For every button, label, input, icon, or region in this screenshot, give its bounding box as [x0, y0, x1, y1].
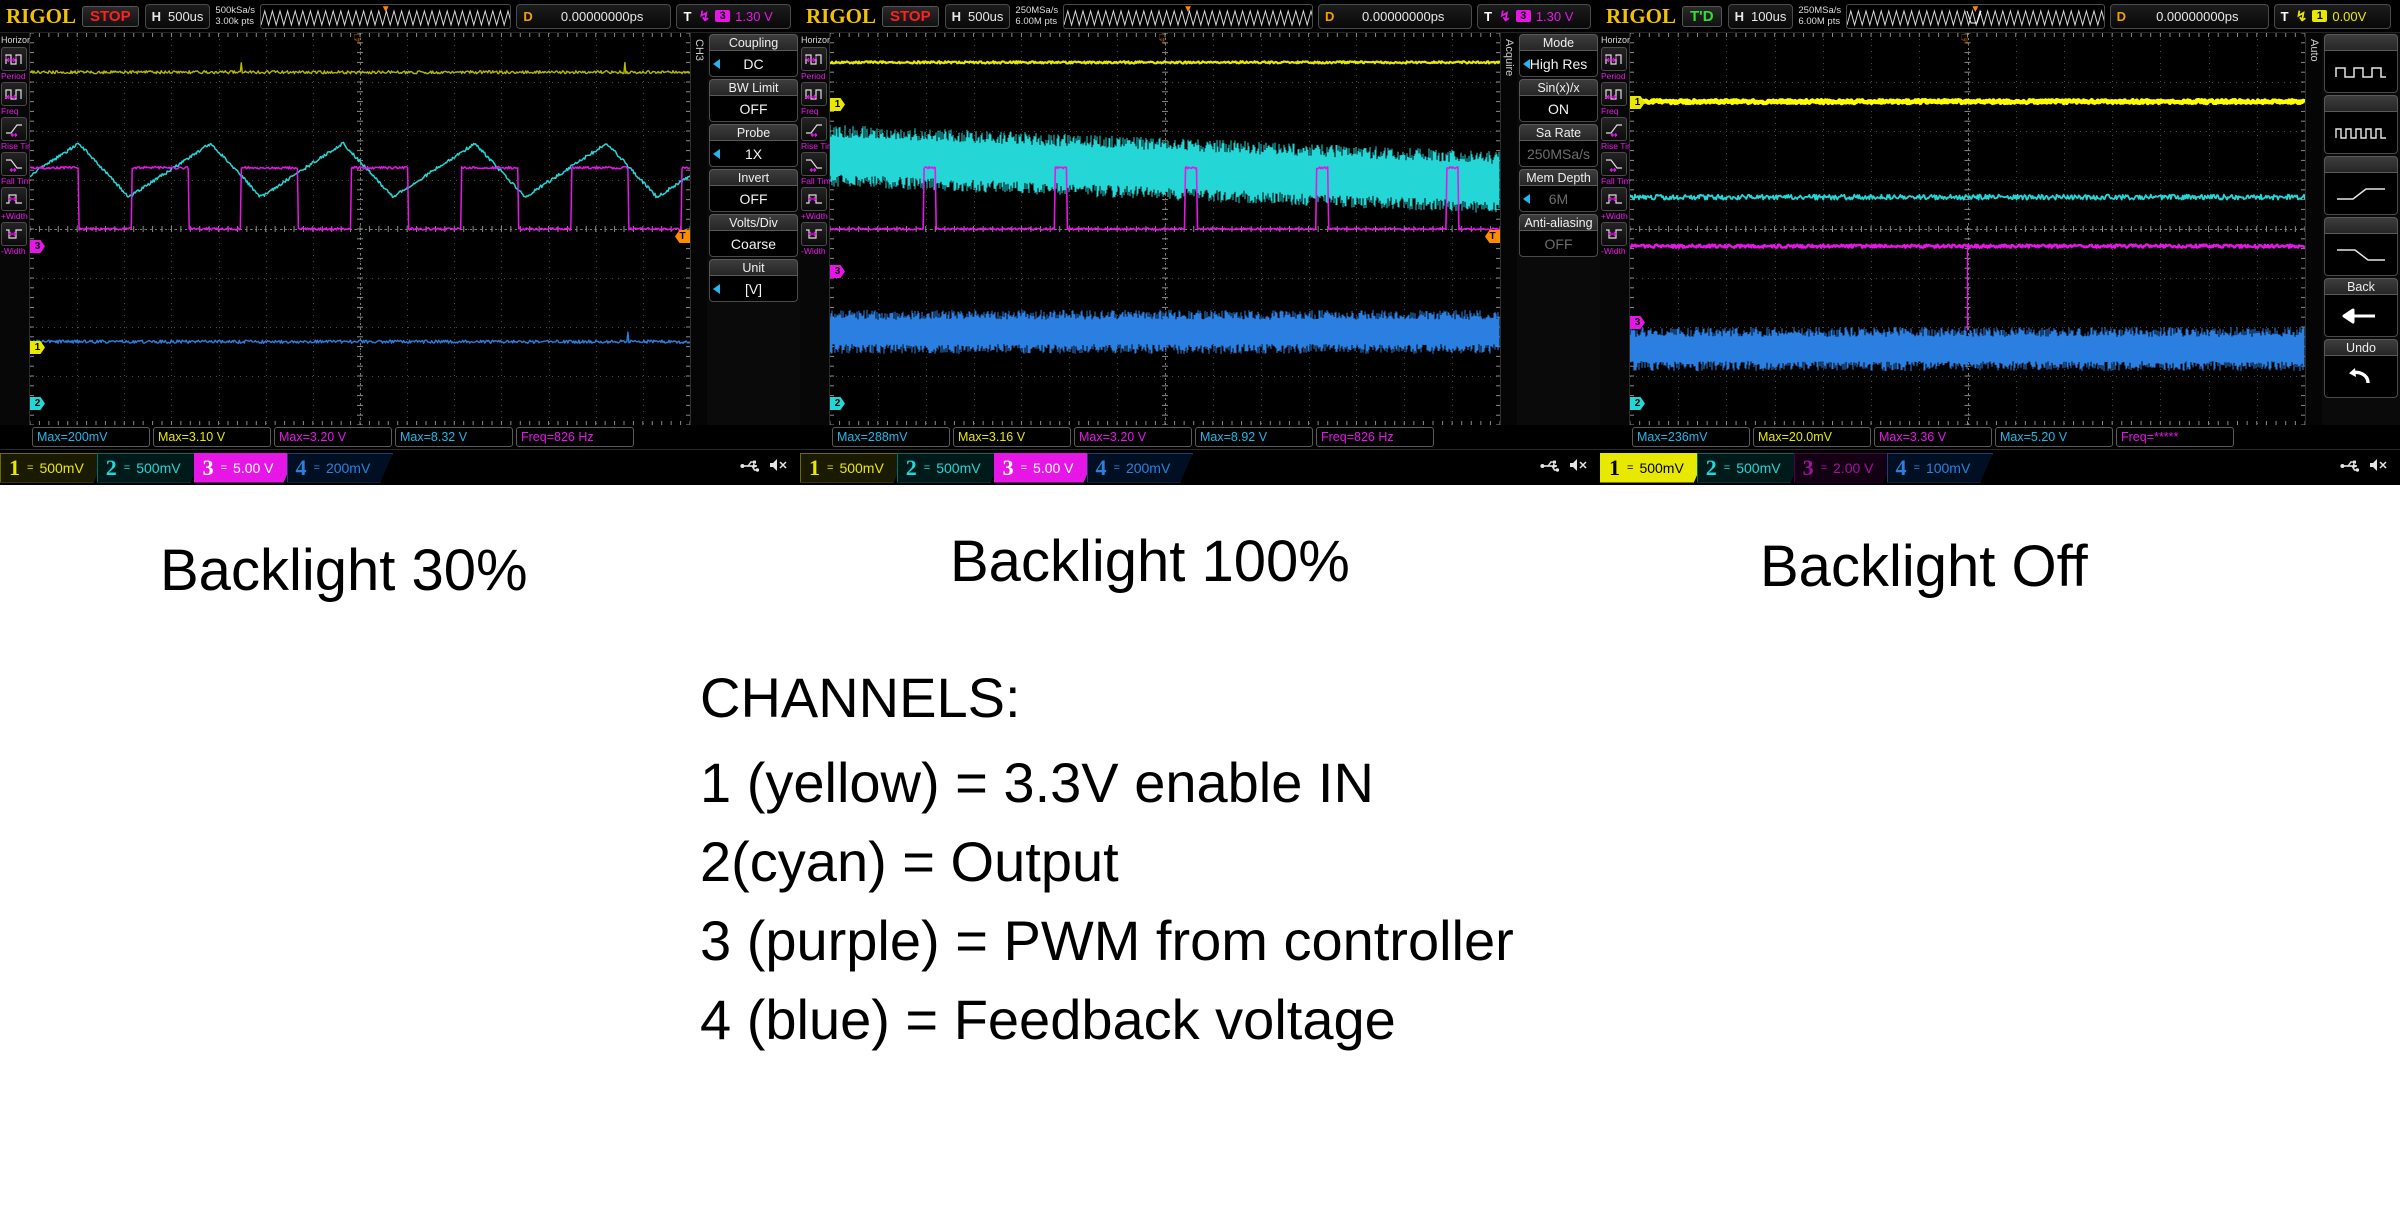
- menu-left-arrow-icon: [1523, 59, 1530, 69]
- channel-coupling-icon: =: [1914, 462, 1919, 474]
- trigger-edge-icon: ↯: [2296, 8, 2308, 25]
- menu-item-header: Undo: [2324, 339, 2398, 356]
- side-menu-tab-label: CH3: [693, 39, 705, 61]
- oscilloscope-screen-1: RIGOLSTOPH500us500kSa/s3.00k pts▼D0.0000…: [0, 0, 800, 485]
- horizontal-timebase[interactable]: H500us: [145, 4, 211, 29]
- side-menu-items: ModeHigh ResSin(x)/xONSa Rate250MSa/sMem…: [1517, 33, 1600, 425]
- measurement-rail: HorizontalPeriodFreqRise TimeFall Time+W…: [1600, 33, 1630, 425]
- channel-volts-per-div: 5.00 V: [1033, 460, 1073, 476]
- menu-cell-sa-rate[interactable]: Sa Rate250MSa/s: [1519, 124, 1598, 167]
- channel-chip-2[interactable]: 2=500mV: [897, 453, 1004, 483]
- run-state-badge[interactable]: T'D: [1682, 6, 1722, 27]
- speaker-mute-icon: [768, 457, 790, 478]
- freq-icon[interactable]: [1601, 82, 1627, 106]
- menu-item-header: [2324, 156, 2398, 173]
- measurement-result-1[interactable]: Max=200mV: [32, 427, 150, 447]
- menu-left-arrow-icon: [713, 149, 720, 159]
- side-menu-items: BackUndo: [2322, 33, 2400, 425]
- measurement-rail-title: Horizontal: [1600, 33, 1629, 46]
- delay-readout[interactable]: D0.00000000ps: [1318, 4, 1472, 29]
- side-menu-tab-label: Acquire: [1503, 39, 1515, 76]
- channel-status-bar: 1=500mV2=500mV3=5.00 V4=200mV: [800, 449, 1600, 485]
- measurement-item-width[interactable]: +Width: [1601, 187, 1628, 221]
- measurement-item-label: Freq: [801, 106, 828, 116]
- measurement-result-3[interactable]: Max=3.20 V: [274, 427, 392, 447]
- usb-icon: [2340, 458, 2362, 478]
- channel-chip-3[interactable]: 3=5.00 V: [194, 453, 297, 483]
- channel-volts-per-div: 500mV: [1639, 460, 1683, 476]
- measurement-item-label: Fall Time: [801, 176, 828, 186]
- channel-number: 4: [296, 455, 307, 481]
- trigger-time-marker[interactable]: ☟: [1158, 33, 1167, 46]
- measurement-item-label: Period: [801, 71, 828, 81]
- menu-item-header: [2324, 217, 2398, 234]
- measurement-item-label: Period: [1601, 71, 1628, 81]
- measurement-rail-title: Horizontal: [0, 33, 29, 46]
- caption-backlight-off: Backlight Off: [1760, 533, 2088, 600]
- side-menu-tab[interactable]: Auto: [2306, 33, 2322, 425]
- menu-item-header: Unit: [709, 259, 798, 276]
- trigger-source-badge: 3: [1516, 10, 1531, 22]
- horizontal-timebase[interactable]: H100us: [1728, 4, 1794, 29]
- menu-cell-probe[interactable]: Probe1X: [709, 124, 798, 167]
- channel-coupling-icon: =: [314, 462, 319, 474]
- status-icons: [740, 457, 800, 478]
- menu-cell-value[interactable]: [2324, 173, 2398, 215]
- memory-minimap[interactable]: ▼: [1846, 4, 2104, 29]
- trigger-source-badge: 3: [715, 10, 730, 22]
- menu-left-arrow-icon: [713, 284, 720, 294]
- menu-cell-value[interactable]: 6M: [1519, 186, 1598, 212]
- channels-legend: CHANNELS: 1 (yellow) = 3.3V enable IN 2(…: [700, 665, 1514, 1066]
- channels-legend-line-1: 1 (yellow) = 3.3V enable IN: [700, 750, 1514, 815]
- menu-item-header: [2324, 95, 2398, 112]
- menu-cell-back[interactable]: Back: [2324, 278, 2398, 337]
- channel-chip-1[interactable]: 1=500mV: [0, 453, 107, 483]
- measurement-item-label: Period: [1, 71, 28, 81]
- channel-chip-2[interactable]: 2=500mV: [1697, 453, 1804, 483]
- menu-cell-anti-aliasing[interactable]: Anti-aliasingOFF: [1519, 214, 1598, 257]
- rigol-logo: RIGOL: [4, 4, 76, 29]
- channel-number: 1: [809, 455, 820, 481]
- trigger-position-marker: ▼: [1970, 5, 1980, 15]
- channel-number: 4: [1896, 455, 1907, 481]
- rise-time-icon[interactable]: [801, 117, 827, 141]
- menu-item-header: Invert: [709, 169, 798, 186]
- trigger-level-value: 0.00V: [2332, 9, 2366, 24]
- channel-volts-per-div: 500mV: [136, 460, 180, 476]
- measurement-item-period[interactable]: Period: [1, 47, 28, 81]
- measurement-item-rise-time[interactable]: Rise Time: [1601, 117, 1628, 151]
- channel-coupling-icon: =: [221, 462, 226, 474]
- measurement-result-2[interactable]: Max=20.0mV: [1753, 427, 1871, 447]
- trigger-edge-icon: ↯: [698, 8, 710, 25]
- measurement-item-label: +Width: [801, 211, 828, 221]
- sample-rate-info: 250MSa/s6.00M pts: [1015, 5, 1058, 27]
- scope-side-menu: CH3CouplingDCBW LimitOFFProbe1XInvertOFF…: [690, 33, 800, 425]
- menu-left-arrow-icon: [713, 59, 720, 69]
- waveform-display[interactable]: 312T☟: [30, 33, 690, 425]
- channels-legend-line-2: 2(cyan) = Output: [700, 829, 1514, 894]
- channel-number: 1: [9, 455, 20, 481]
- neg-width-icon[interactable]: [1601, 222, 1627, 246]
- measurement-result-2[interactable]: Max=3.16 V: [953, 427, 1071, 447]
- freq-icon[interactable]: [801, 82, 827, 106]
- channel-volts-per-div: 2.00 V: [1833, 460, 1873, 476]
- menu-cell-multi-cycle-icon[interactable]: [2324, 34, 2398, 93]
- channel-number: 2: [906, 455, 917, 481]
- menu-cell-value[interactable]: OFF: [709, 186, 798, 212]
- scope-side-menu: AcquireModeHigh ResSin(x)/xONSa Rate250M…: [1500, 33, 1600, 425]
- measurement-item-label: Freq: [1, 106, 28, 116]
- menu-cell-value[interactable]: [2324, 112, 2398, 154]
- trigger-time-marker[interactable]: ☟: [1961, 33, 1970, 46]
- menu-cell-bw-limit[interactable]: BW LimitOFF: [709, 79, 798, 122]
- menu-cell-sin-x-x[interactable]: Sin(x)/xON: [1519, 79, 1598, 122]
- measurement-item-fall-time[interactable]: Fall Time: [801, 152, 828, 186]
- trigger-readout[interactable]: T↯10.00V: [2274, 4, 2391, 29]
- trigger-edge-icon: ↯: [1499, 8, 1511, 25]
- menu-cell-mem-depth[interactable]: Mem Depth6M: [1519, 169, 1598, 212]
- neg-width-icon[interactable]: [1, 222, 27, 246]
- channels-legend-line-3: 3 (purple) = PWM from controller: [700, 908, 1514, 973]
- status-icons: [2340, 457, 2400, 478]
- channel-volts-per-div: 200mV: [1126, 460, 1170, 476]
- channel-number: 3: [1003, 455, 1014, 481]
- trigger-readout[interactable]: T↯31.30 V: [676, 4, 791, 29]
- measurement-item-freq[interactable]: Freq: [1, 82, 28, 116]
- period-icon[interactable]: [1, 47, 27, 71]
- menu-cell-undo[interactable]: Undo: [2324, 339, 2398, 398]
- channel-number: 2: [106, 455, 117, 481]
- menu-item-header: Probe: [709, 124, 798, 141]
- rise-time-icon[interactable]: [1601, 117, 1627, 141]
- channel-coupling-icon: =: [124, 462, 129, 474]
- freq-icon[interactable]: [1, 82, 27, 106]
- measurement-item-label: -Width: [1, 246, 28, 256]
- menu-cell-unit[interactable]: Unit[V]: [709, 259, 798, 302]
- menu-cell-value[interactable]: Coarse: [709, 231, 798, 257]
- channel-volts-per-div: 500mV: [39, 460, 83, 476]
- scope-side-menu: Auto BackUndo: [2305, 33, 2400, 425]
- menu-cell-value[interactable]: [2324, 295, 2398, 337]
- menu-cell-value[interactable]: OFF: [709, 96, 798, 122]
- measurement-item-width[interactable]: -Width: [1, 222, 28, 256]
- menu-cell-value[interactable]: ON: [1519, 96, 1598, 122]
- pos-width-icon[interactable]: [801, 187, 827, 211]
- menu-item-header: BW Limit: [709, 79, 798, 96]
- trigger-time-marker[interactable]: ☟: [353, 33, 362, 46]
- channel-volts-per-div: 200mV: [326, 460, 370, 476]
- channel-chip-2[interactable]: 2=500mV: [97, 453, 204, 483]
- menu-cell-volts-div[interactable]: Volts/DivCoarse: [709, 214, 798, 257]
- measurement-item-period[interactable]: Period: [801, 47, 828, 81]
- measurement-item-label: Freq: [1601, 106, 1628, 116]
- memory-minimap[interactable]: ▼: [260, 4, 511, 29]
- fall-time-icon[interactable]: [1601, 152, 1627, 176]
- channels-legend-line-4: 4 (blue) = Feedback voltage: [700, 987, 1514, 1052]
- measurement-result-3[interactable]: Max=3.20 V: [1074, 427, 1192, 447]
- measurement-item-label: Fall Time: [1601, 176, 1628, 186]
- measurement-item-label: Rise Time: [801, 141, 828, 151]
- menu-item-header: Anti-aliasing: [1519, 214, 1598, 231]
- channel-coupling-icon: =: [1021, 462, 1026, 474]
- channel-number: 3: [203, 455, 214, 481]
- channel-number: 3: [1803, 455, 1814, 481]
- measurement-item-rise-time[interactable]: Rise Time: [801, 117, 828, 151]
- measurement-result-2[interactable]: Max=3.10 V: [153, 427, 271, 447]
- scope-screenshot-strip: RIGOLSTOPH500us500kSa/s3.00k pts▼D0.0000…: [0, 0, 2400, 485]
- side-menu-items: CouplingDCBW LimitOFFProbe1XInvertOFFVol…: [707, 33, 800, 425]
- channel-coupling-icon: =: [924, 462, 929, 474]
- channel-coupling-icon: =: [1627, 462, 1632, 474]
- channel-coupling-icon: =: [1724, 462, 1729, 474]
- channel-volts-per-div: 500mV: [839, 460, 883, 476]
- run-state-badge[interactable]: STOP: [82, 6, 139, 27]
- channels-legend-header: CHANNELS:: [700, 665, 1514, 730]
- measurement-results-row: Max=288mVMax=3.16 VMax=3.20 VMax=8.92 VF…: [830, 425, 1600, 449]
- speaker-mute-icon: [2368, 457, 2390, 478]
- speaker-mute-icon: [1568, 457, 1590, 478]
- measurement-item-freq[interactable]: Freq: [1601, 82, 1628, 116]
- usb-icon: [740, 458, 762, 478]
- delay-readout[interactable]: D0.00000000ps: [2110, 4, 2269, 29]
- channel-number: 4: [1096, 455, 1107, 481]
- scope-status-bar: RIGOLT'DH100us250MSa/s6.00M pts▼D0.00000…: [1600, 0, 2400, 33]
- menu-item-header: Mode: [1519, 34, 1598, 51]
- caption-backlight-100: Backlight 100%: [950, 528, 1350, 595]
- waveform-display[interactable]: 132☟: [1630, 33, 2305, 425]
- menu-cell-mode[interactable]: ModeHigh Res: [1519, 34, 1598, 77]
- channel-volts-per-div: 100mV: [1926, 460, 1970, 476]
- measurement-item-fall-time[interactable]: Fall Time: [1601, 152, 1628, 186]
- delay-readout[interactable]: D0.00000000ps: [516, 4, 671, 29]
- measurement-item-label: Rise Time: [1, 141, 28, 151]
- menu-cell-value[interactable]: 1X: [709, 141, 798, 167]
- fall-time-icon[interactable]: [1, 152, 27, 176]
- measurement-item-freq[interactable]: Freq: [801, 82, 828, 116]
- menu-cell-value[interactable]: [2324, 356, 2398, 398]
- measurement-item-width[interactable]: -Width: [801, 222, 828, 256]
- menu-item-header: Sa Rate: [1519, 124, 1598, 141]
- fall-time-icon[interactable]: [801, 152, 827, 176]
- channel-status-bar: 1=500mV2=500mV3=2.00 V4=100mV: [1600, 449, 2400, 485]
- measurement-item-fall-time[interactable]: Fall Time: [1, 152, 28, 186]
- channel-volts-per-div: 500mV: [936, 460, 980, 476]
- menu-cell-falling-edge-icon[interactable]: [2324, 217, 2398, 276]
- trigger-level-value: 1.30 V: [735, 9, 773, 24]
- measurement-result-1[interactable]: Max=288mV: [832, 427, 950, 447]
- menu-cell-value[interactable]: OFF: [1519, 231, 1598, 257]
- pos-width-icon[interactable]: [1, 187, 27, 211]
- channel-chip-3[interactable]: 3=2.00 V: [1794, 453, 1897, 483]
- measurement-result-4[interactable]: Max=5.20 V: [1995, 427, 2113, 447]
- menu-cell-invert[interactable]: InvertOFF: [709, 169, 798, 212]
- run-state-badge[interactable]: STOP: [882, 6, 939, 27]
- period-icon[interactable]: [1601, 47, 1627, 71]
- trigger-readout[interactable]: T↯31.30 V: [1477, 4, 1591, 29]
- menu-item-header: Coupling: [709, 34, 798, 51]
- rigol-logo: RIGOL: [804, 4, 876, 29]
- status-icons: [1540, 457, 1600, 478]
- channel-coupling-icon: =: [1114, 462, 1119, 474]
- measurement-item-rise-time[interactable]: Rise Time: [1, 117, 28, 151]
- neg-width-icon[interactable]: [801, 222, 827, 246]
- measurement-results-row: Max=200mVMax=3.10 VMax=3.20 VMax=8.32 VF…: [30, 425, 800, 449]
- menu-cell-rising-edge-icon[interactable]: [2324, 156, 2398, 215]
- scope-status-bar: RIGOLSTOPH500us500kSa/s3.00k pts▼D0.0000…: [0, 0, 800, 33]
- measurement-result-1[interactable]: Max=236mV: [1632, 427, 1750, 447]
- rigol-logo: RIGOL: [1604, 4, 1676, 29]
- measurement-results-row: Max=236mVMax=20.0mVMax=3.36 VMax=5.20 VF…: [1630, 425, 2400, 449]
- channel-number: 1: [1609, 455, 1620, 481]
- measurement-rail: HorizontalPeriodFreqRise TimeFall Time+W…: [800, 33, 830, 425]
- pos-width-icon[interactable]: [1601, 187, 1627, 211]
- memory-minimap[interactable]: ▼: [1063, 4, 1313, 29]
- horizontal-timebase[interactable]: H500us: [945, 4, 1011, 29]
- sample-rate-info: 500kSa/s3.00k pts: [215, 5, 255, 27]
- rise-time-icon[interactable]: [1, 117, 27, 141]
- menu-item-header: Volts/Div: [709, 214, 798, 231]
- channel-chip-3[interactable]: 3=5.00 V: [994, 453, 1097, 483]
- menu-cell-value[interactable]: [V]: [709, 276, 798, 302]
- measurement-rail: HorizontalPeriodFreqRise TimeFall Time+W…: [0, 33, 30, 425]
- menu-item-header: Mem Depth: [1519, 169, 1598, 186]
- measurement-item-label: Rise Time: [1601, 141, 1628, 151]
- caption-backlight-30: Backlight 30%: [160, 537, 528, 604]
- channel-chip-1[interactable]: 1=500mV: [1600, 453, 1707, 483]
- channel-chip-1[interactable]: 1=500mV: [800, 453, 907, 483]
- usb-icon: [1540, 458, 1562, 478]
- trigger-level-value: 1.30 V: [1536, 9, 1574, 24]
- channel-chip-4[interactable]: 4=100mV: [1887, 453, 1994, 483]
- channel-volts-per-div: 500mV: [1736, 460, 1780, 476]
- menu-cell-value[interactable]: High Res: [1519, 51, 1598, 77]
- channel-coupling-icon: =: [827, 462, 832, 474]
- menu-cell-single-cycle-icon[interactable]: [2324, 95, 2398, 154]
- measurement-item-label: -Width: [1601, 246, 1628, 256]
- measurement-result-5[interactable]: Freq=*****: [2116, 427, 2234, 447]
- measurement-result-5[interactable]: Freq=826 Hz: [516, 427, 634, 447]
- waveform-display[interactable]: 132T☟: [830, 33, 1500, 425]
- oscilloscope-screen-2: RIGOLSTOPH500us250MSa/s6.00M pts▼D0.0000…: [800, 0, 1600, 485]
- menu-cell-value[interactable]: [2324, 51, 2398, 93]
- menu-cell-value[interactable]: 250MSa/s: [1519, 141, 1598, 167]
- measurement-rail-title: Horizontal: [800, 33, 829, 46]
- scope-status-bar: RIGOLSTOPH500us250MSa/s6.00M pts▼D0.0000…: [800, 0, 1600, 33]
- measurement-result-3[interactable]: Max=3.36 V: [1874, 427, 1992, 447]
- channel-coupling-icon: =: [1821, 462, 1826, 474]
- channel-chip-4[interactable]: 4=200mV: [1087, 453, 1194, 483]
- menu-item-header: Sin(x)/x: [1519, 79, 1598, 96]
- measurement-result-5[interactable]: Freq=826 Hz: [1316, 427, 1434, 447]
- menu-cell-value[interactable]: [2324, 234, 2398, 276]
- measurement-item-period[interactable]: Period: [1601, 47, 1628, 81]
- measurement-item-width[interactable]: +Width: [801, 187, 828, 221]
- trigger-position-marker: ▼: [381, 5, 391, 15]
- menu-item-header: [2324, 34, 2398, 51]
- channel-number: 2: [1706, 455, 1717, 481]
- menu-left-arrow-icon: [1523, 194, 1530, 204]
- measurement-item-label: -Width: [801, 246, 828, 256]
- menu-cell-value[interactable]: DC: [709, 51, 798, 77]
- channel-volts-per-div: 5.00 V: [233, 460, 273, 476]
- measurement-item-label: Fall Time: [1, 176, 28, 186]
- channel-status-bar: 1=500mV2=500mV3=5.00 V4=200mV: [0, 449, 800, 485]
- trigger-position-marker: ▼: [1183, 5, 1193, 15]
- side-menu-tab[interactable]: Acquire: [1501, 33, 1517, 425]
- channel-coupling-icon: =: [27, 462, 32, 474]
- channel-chip-4[interactable]: 4=200mV: [287, 453, 394, 483]
- period-icon[interactable]: [801, 47, 827, 71]
- measurement-result-4[interactable]: Max=8.92 V: [1195, 427, 1313, 447]
- side-menu-tab-label: Auto: [2308, 39, 2320, 62]
- measurement-result-4[interactable]: Max=8.32 V: [395, 427, 513, 447]
- sample-rate-info: 250MSa/s6.00M pts: [1798, 5, 1841, 27]
- oscilloscope-screen-3: RIGOLT'DH100us250MSa/s6.00M pts▼D0.00000…: [1600, 0, 2400, 485]
- measurement-item-width[interactable]: +Width: [1, 187, 28, 221]
- trigger-source-badge: 1: [2312, 10, 2327, 22]
- menu-cell-coupling[interactable]: CouplingDC: [709, 34, 798, 77]
- measurement-item-label: +Width: [1601, 211, 1628, 221]
- menu-item-header: Back: [2324, 278, 2398, 295]
- side-menu-tab[interactable]: CH3: [691, 33, 707, 425]
- measurement-item-width[interactable]: -Width: [1601, 222, 1628, 256]
- measurement-item-label: +Width: [1, 211, 28, 221]
